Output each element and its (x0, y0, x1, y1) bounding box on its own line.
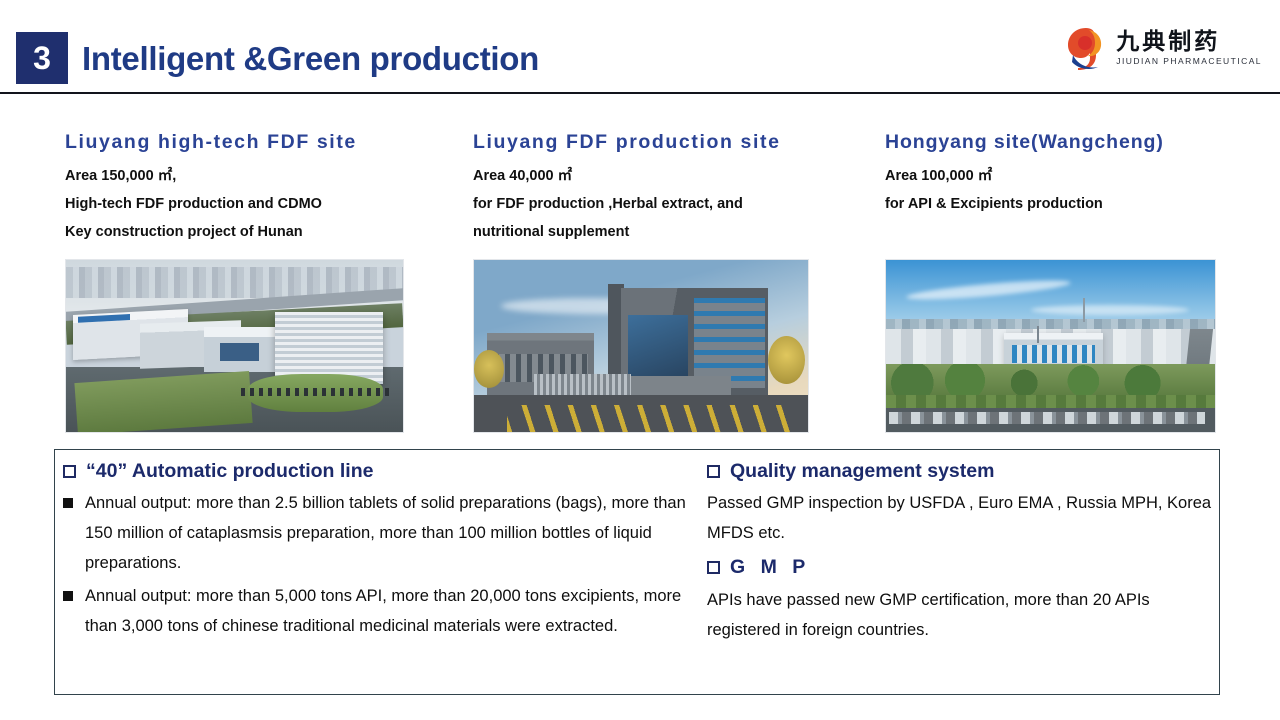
site-detail-line: Area 40,000 ㎡ (473, 162, 818, 190)
production-bullet-text: Annual output: more than 2.5 billion tab… (85, 488, 703, 578)
production-line-section: “40” Automatic production line Annual ou… (63, 458, 703, 641)
square-filled-bullet-icon (63, 498, 73, 508)
site-column-liuyang-fdf: Liuyang FDF production site Area 40,000 … (473, 130, 818, 433)
production-line-heading: “40” Automatic production line (86, 458, 373, 484)
quality-heading-row: Quality management system (707, 458, 1212, 484)
site-title: Hongyang site(Wangcheng) (885, 130, 1230, 154)
quality-heading: Quality management system (730, 458, 994, 484)
site-title: Liuyang high-tech FDF site (65, 130, 410, 154)
page-title: Intelligent &Green production (82, 40, 539, 78)
company-logo: 九典制药 JIUDIAN PHARMACEUTICAL (1065, 22, 1262, 74)
site-photo-liuyang-fdf (473, 259, 809, 433)
site-column-hongyang: Hongyang site(Wangcheng) Area 100,000 ㎡ … (885, 130, 1230, 433)
site-detail-line: Area 150,000 ㎡, (65, 162, 410, 190)
summary-box: “40” Automatic production line Annual ou… (54, 449, 1220, 695)
list-item: Annual output: more than 2.5 billion tab… (63, 488, 703, 578)
site-title: Liuyang FDF production site (473, 130, 818, 154)
section-number-badge: 3 (16, 32, 68, 84)
logo-name-en: JIUDIAN PHARMACEUTICAL (1116, 56, 1262, 66)
square-outline-bullet-icon (63, 465, 76, 478)
header-divider (0, 92, 1280, 94)
production-line-heading-row: “40” Automatic production line (63, 458, 703, 484)
site-detail-line: for API & Excipients production (885, 190, 1230, 218)
quality-section: Quality management system Passed GMP ins… (707, 458, 1212, 645)
logo-name-cn: 九典制药 (1116, 29, 1262, 54)
jiudian-logo-mark-icon (1065, 25, 1107, 71)
logo-text: 九典制药 JIUDIAN PHARMACEUTICAL (1116, 29, 1262, 66)
site-detail-line: Key construction project of Hunan (65, 218, 410, 246)
production-bullet-text: Annual output: more than 5,000 tons API,… (85, 581, 703, 641)
gmp-heading: G M P (730, 554, 810, 580)
site-detail-line: nutritional supplement (473, 218, 818, 246)
list-item: Annual output: more than 5,000 tons API,… (63, 581, 703, 641)
slide-header: 3 Intelligent &Green production 九典制药 JIU… (0, 0, 1280, 94)
site-photo-liuyang-high-tech (65, 259, 404, 433)
gmp-heading-row: G M P (707, 554, 1212, 580)
square-filled-bullet-icon (63, 591, 73, 601)
square-outline-bullet-icon (707, 465, 720, 478)
slide: 3 Intelligent &Green production 九典制药 JIU… (0, 0, 1280, 720)
quality-paragraph: Passed GMP inspection by USFDA , Euro EM… (707, 488, 1212, 548)
gmp-paragraph: APIs have passed new GMP certification, … (707, 585, 1212, 645)
site-detail-line: Area 100,000 ㎡ (885, 162, 1230, 190)
site-column-liuyang-high-tech: Liuyang high-tech FDF site Area 150,000 … (65, 130, 410, 433)
site-detail-line: High-tech FDF production and CDMO (65, 190, 410, 218)
site-detail-line: for FDF production ,Herbal extract, and (473, 190, 818, 218)
square-outline-bullet-icon (707, 561, 720, 574)
site-photo-hongyang (885, 259, 1216, 433)
